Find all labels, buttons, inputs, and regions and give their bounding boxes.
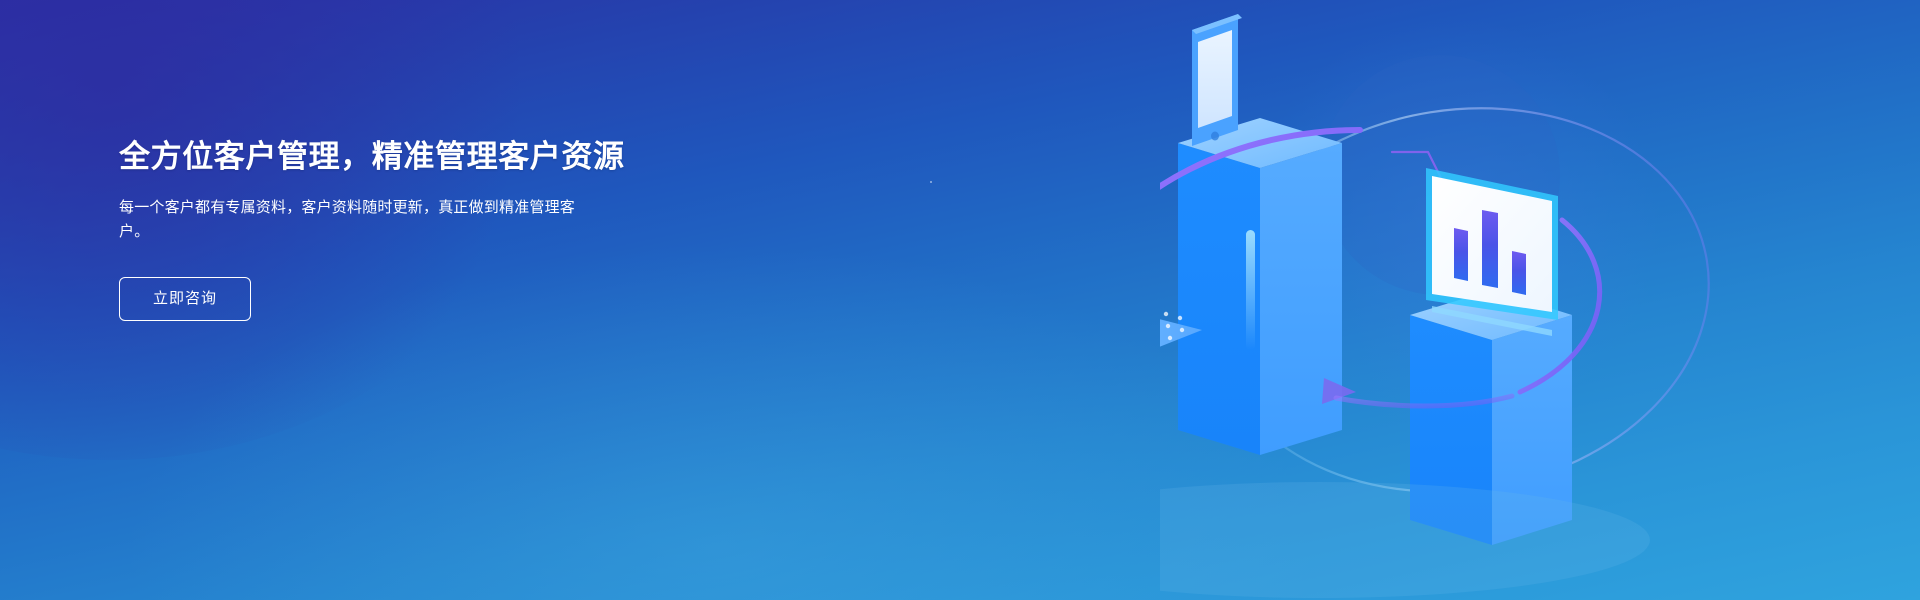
consult-now-button[interactable]: 立即咨询	[119, 277, 251, 321]
chart-bar-3	[1512, 251, 1526, 295]
chart-bar-2	[1482, 210, 1498, 288]
tablet-device	[1192, 14, 1242, 146]
hero-banner: 全方位客户管理，精准管理客户资源 每一个客户都有专属资料，客户资料随时更新，真正…	[0, 0, 1920, 600]
page-title: 全方位客户管理，精准管理客户资源	[119, 137, 739, 178]
chart-bar-1	[1454, 228, 1468, 281]
hero-copy: 全方位客户管理，精准管理客户资源 每一个客户都有专属资料，客户资料随时更新，真正…	[119, 137, 739, 321]
decorative-speck	[930, 181, 932, 183]
hero-illustration	[1160, 0, 1920, 600]
ground-haze	[1160, 482, 1650, 598]
pillar-center	[1178, 118, 1342, 455]
hero-subtext: 每一个客户都有专属资料，客户资料随时更新，真正做到精准管理客户。	[119, 196, 599, 245]
